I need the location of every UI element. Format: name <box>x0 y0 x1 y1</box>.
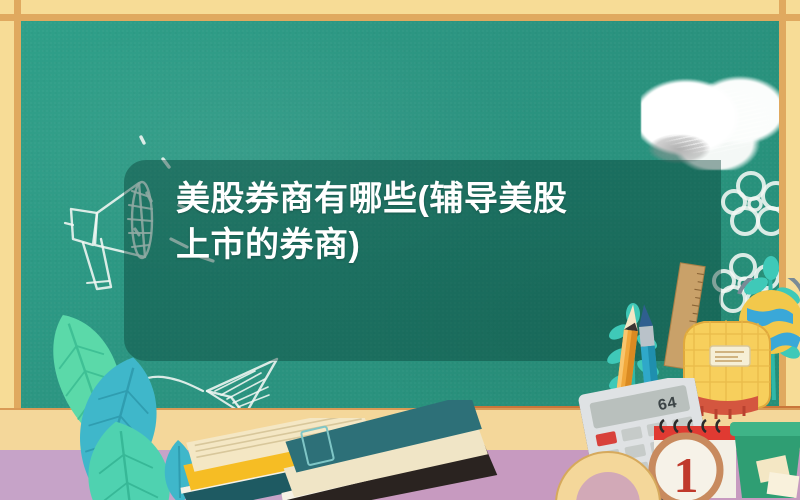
frame-band-top <box>0 14 800 21</box>
magnifier-number: 1 <box>674 447 699 500</box>
protractor <box>552 438 662 500</box>
page-title: 美股券商有哪些(辅导美股 上市的券商) <box>176 176 696 268</box>
poster-canvas: 美股券商有哪些(辅导美股 上市的券商) <box>0 0 800 500</box>
book-stack-center <box>262 400 512 500</box>
paper-scraps <box>756 452 800 500</box>
